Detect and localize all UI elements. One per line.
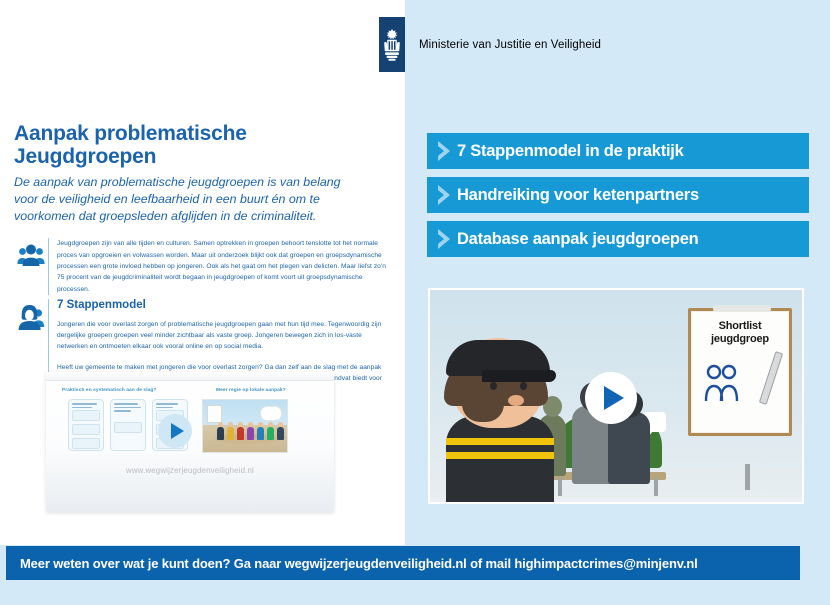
site-photo-speech-bubble [260, 406, 282, 421]
site-mini-card [68, 399, 104, 451]
footer-contact-bar: Meer weten over wat je kunt doen? Ga naa… [6, 546, 800, 580]
flipchart-paper: Shortlist jeugdgroep [691, 311, 789, 433]
section-heading: 7 Stappenmodel [57, 299, 389, 313]
flipchart-title: Shortlist jeugdgroep [691, 311, 789, 345]
left-content-column: Aanpak problematische Jeugdgroepen De aa… [14, 122, 389, 400]
video-police-officer [438, 306, 560, 502]
banner-link-database[interactable]: Database aanpak jeugdgroepen [427, 221, 809, 257]
chevron-right-icon [435, 139, 455, 163]
flipchart-clip [713, 305, 771, 312]
officer-uniform [446, 416, 554, 502]
officer-nose [508, 395, 524, 406]
poster-page: Ministerie van Justitie en Veiligheid Aa… [0, 0, 830, 605]
site-heading-right: Meer regie op lokale aanpak? [216, 388, 286, 393]
site-browser-bar [46, 372, 334, 381]
site-heading-left: Praktisch en systematisch aan de slag? [62, 388, 192, 393]
animation-video-thumbnail[interactable]: Shortlist jeugdgroep [428, 288, 804, 504]
footer-text: Meer weten over wat je kunt doen? Ga naa… [20, 556, 698, 571]
banner-label: 7 Stappenmodel in de praktijk [457, 142, 684, 161]
chevron-right-icon [435, 227, 455, 251]
officer-cap-visor [482, 370, 556, 382]
banner-label: Database aanpak jeugdgroepen [457, 230, 699, 249]
flipchart: Shortlist jeugdgroep [688, 308, 792, 436]
flipchart-stand [745, 464, 750, 490]
play-button-icon[interactable] [158, 414, 192, 448]
site-headings-row: Praktisch en systematisch aan de slag? M… [46, 381, 334, 393]
flipchart-title-line2: jeugdgroep [711, 333, 769, 345]
chevron-right-icon [435, 183, 455, 207]
dutch-coat-of-arms-icon [382, 28, 402, 62]
hooded-youth-icon [14, 299, 48, 333]
stappenmodel-paragraph-1: Jongeren die voor overlast zorgen of pro… [57, 319, 389, 353]
ministry-logo-block: Ministerie van Justitie en Veiligheid [379, 17, 601, 72]
banner-link-stappenmodel-praktijk[interactable]: 7 Stappenmodel in de praktijk [427, 133, 809, 169]
ministry-name: Ministerie van Justitie en Veiligheid [419, 39, 601, 51]
video-bench-leg [654, 478, 658, 496]
youth-group-icon [14, 238, 48, 268]
site-url-text: www.wegwijzerjeugdenveiligheid.nl [46, 466, 334, 475]
marker-pen-icon [759, 351, 783, 405]
logo-blue-bar [379, 17, 405, 72]
left-white-strip [0, 540, 405, 545]
site-photo-board [207, 405, 222, 423]
site-mini-card [110, 399, 146, 451]
website-video-thumbnail[interactable]: Praktisch en systematisch aan de slag? M… [46, 372, 334, 512]
intro-paragraph: Jeugdgroepen zijn van alle tijden en cul… [57, 238, 389, 295]
banner-link-handreiking[interactable]: Handreiking voor ketenpartners [427, 177, 809, 213]
flipchart-title-line1: Shortlist [719, 320, 762, 332]
page-title: Aanpak problematische Jeugdgroepen [14, 122, 389, 168]
banner-label: Handreiking voor ketenpartners [457, 186, 699, 205]
info-block-youth-groups: Jeugdgroepen zijn van alle tijden en cul… [14, 238, 389, 295]
page-subtitle: De aanpak van problematische jeugdgroepe… [14, 174, 362, 224]
info-block-body: Jeugdgroepen zijn van alle tijden en cul… [48, 238, 389, 295]
site-meeting-photo [202, 399, 288, 453]
play-button-icon[interactable] [585, 372, 637, 424]
flipchart-people-drawing [703, 363, 745, 410]
